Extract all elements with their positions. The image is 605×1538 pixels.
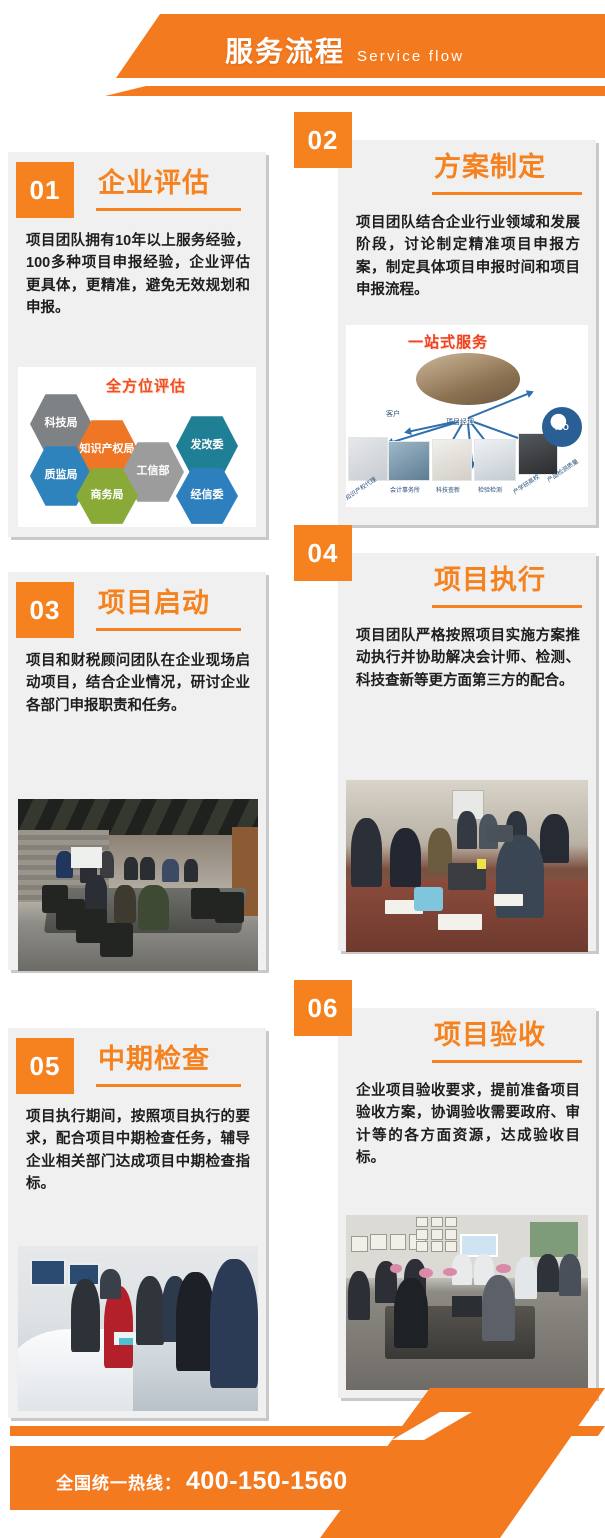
one-stop-hub-photo xyxy=(416,353,520,405)
step-title-rule-04 xyxy=(432,605,582,608)
step-title-03: 项目启动 xyxy=(98,590,210,617)
step-title-01: 企业评估 xyxy=(98,170,210,197)
one-stop-label-client: 客户 xyxy=(386,409,400,419)
hex-cell-label: 商务局 xyxy=(91,490,124,502)
one-stop-title: 一站式服务 xyxy=(408,331,488,352)
header-title-en: Service flow xyxy=(357,49,464,64)
photo-reception-visit xyxy=(18,1246,258,1411)
step-title-05: 中期检查 xyxy=(98,1046,210,1073)
footer-hotline-label: 全国统一热线： xyxy=(56,1469,182,1494)
hex-cell-label: 科技局 xyxy=(45,418,78,430)
hex-cell-label: 知识产权局 xyxy=(80,444,135,456)
infographic-page: 服务流程 Service flow 01 企业评估 项目团队拥有10年以上服务经… xyxy=(0,0,605,1538)
step-body-05: 项目执行期间，按照项目执行的要求，配合项目中期检查任务，辅导企业相关部门达成项目… xyxy=(26,1106,250,1196)
step-number-badge-03: 03 xyxy=(16,582,74,638)
step-card-03: 03 项目启动 项目和财税顾问团队在企业现场启动项目，结合企业情况，研讨企业各部… xyxy=(8,572,266,970)
hex-cell-label: 工信部 xyxy=(137,466,170,478)
footer-hotline: 全国统一热线： 400-150-1560 xyxy=(56,1467,348,1496)
one-stop-node-thumb xyxy=(432,439,472,481)
hex-diagram-title: 全方位评估 xyxy=(106,375,186,396)
step-number-05: 05 xyxy=(30,1051,61,1082)
step-number-badge-06: 06 xyxy=(294,980,352,1036)
step-body-03: 项目和财税顾问团队在企业现场启动项目，结合企业情况，研讨企业各部门申报职责和任务… xyxy=(26,650,250,717)
step-number-badge-05: 05 xyxy=(16,1038,74,1094)
step-number-04: 04 xyxy=(308,538,339,569)
header-title-cn: 服务流程 xyxy=(225,38,345,66)
one-stop-node-thumb xyxy=(348,437,388,481)
step-number-badge-04: 04 xyxy=(294,525,352,581)
step-title-04: 项目执行 xyxy=(434,567,546,594)
hex-cell-label: 发改委 xyxy=(191,440,224,452)
step-number-06: 06 xyxy=(308,993,339,1024)
step-body-01: 项目团队拥有10年以上服务经验，100多种项目申报经验，企业评估更具体，更精准，… xyxy=(26,230,250,320)
step-number-03: 03 xyxy=(30,595,61,626)
hex-cell-label: 质监局 xyxy=(45,470,78,482)
step-title-06: 项目验收 xyxy=(434,1022,546,1049)
step-card-05: 05 中期检查 项目执行期间，按照项目执行的要求，配合项目中期检查任务，辅导企业… xyxy=(8,1028,266,1418)
step-title-rule-06 xyxy=(432,1060,582,1063)
hex-cell-fgw: 发改委 xyxy=(176,415,238,477)
footer-hotline-number: 400-150-1560 xyxy=(186,1467,348,1496)
step-body-06: 企业项目验收要求，提前准备项目验收方案，协调验收需要政府、审计等的各方面资源，达… xyxy=(356,1080,580,1170)
iso-seal-label: ISO xyxy=(555,423,569,432)
step-card-02: 02 方案制定 项目团队结合企业行业领域和发展阶段，讨论制定精准项目申报方案，制… xyxy=(338,140,596,525)
assessment-hex-diagram: 全方位评估 科技局 知识产权局 质监局 工信部 商务局 发改委 xyxy=(18,367,256,527)
step-card-04: 04 项目执行 项目团队严格按照项目实施方案推动执行并协助解决会计师、检测、科技… xyxy=(338,553,596,951)
one-stop-service-diagram: 一站式服务 客户 项目经理 ISO xyxy=(346,325,588,507)
step-title-rule-03 xyxy=(96,628,241,631)
step-body-04: 项目团队严格按照项目实施方案推动执行并协助解决会计师、检测、科技查新等更方面第三… xyxy=(356,625,580,692)
one-stop-node-thumb xyxy=(474,439,516,481)
step-number-badge-01: 01 xyxy=(16,162,74,218)
photo-working-meeting xyxy=(346,780,588,952)
header-title: 服务流程 Service flow xyxy=(225,38,464,66)
one-stop-node-label: 会计事务所 xyxy=(390,485,420,494)
step-card-06: 06 项目验收 企业项目验收要求，提前准备项目验收方案，协调验收需要政府、审计等… xyxy=(338,1008,596,1398)
one-stop-node-label: 科技查新 xyxy=(436,485,460,494)
step-number-02: 02 xyxy=(308,125,339,156)
one-stop-node-label: 检验检测 xyxy=(478,485,502,494)
step-number-01: 01 xyxy=(30,175,61,206)
one-stop-iso-seal: ISO xyxy=(542,407,582,447)
step-card-01: 01 企业评估 项目团队拥有10年以上服务经验，100多种项目申报经验，企业评估… xyxy=(8,152,266,537)
step-body-02: 项目团队结合企业行业领域和发展阶段，讨论制定精准项目申报方案，制定具体项目申报时… xyxy=(356,212,580,302)
step-title-02: 方案制定 xyxy=(434,154,546,181)
step-title-rule-05 xyxy=(96,1084,241,1087)
hex-cell-label: 经信委 xyxy=(191,490,224,502)
step-title-rule-01 xyxy=(96,208,241,211)
photo-acceptance-meeting xyxy=(346,1215,588,1390)
one-stop-node-thumb xyxy=(388,441,430,481)
step-number-badge-02: 02 xyxy=(294,112,352,168)
hex-cell-jxw: 经信委 xyxy=(176,467,238,525)
step-title-rule-02 xyxy=(432,192,582,195)
photo-conference-room xyxy=(18,799,258,971)
